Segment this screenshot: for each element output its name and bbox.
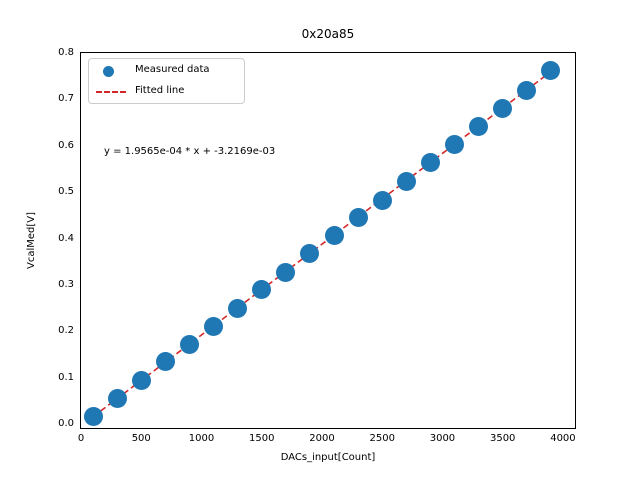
x-tick-label: 4000 bbox=[533, 433, 593, 445]
x-tick-label: 1000 bbox=[171, 433, 231, 445]
y-tick-label: 0.8 bbox=[40, 47, 74, 59]
data-point bbox=[156, 352, 175, 371]
data-point bbox=[204, 317, 223, 336]
chart-title: 0x20a85 bbox=[80, 27, 576, 41]
plot-area bbox=[80, 52, 576, 429]
data-point bbox=[84, 407, 103, 426]
legend-entry-fitted-line: Fitted line bbox=[89, 80, 244, 103]
x-tick-label: 3500 bbox=[473, 433, 533, 445]
y-tick-label: 0.6 bbox=[40, 140, 74, 152]
y-tick-label: 0.7 bbox=[40, 93, 74, 105]
y-tick-label: 0.3 bbox=[40, 279, 74, 291]
y-tick-label: 0.5 bbox=[40, 186, 74, 198]
circle-marker-icon bbox=[103, 66, 114, 77]
legend-label-measured-data: Measured data bbox=[135, 63, 210, 77]
y-tick-label: 0.2 bbox=[40, 325, 74, 337]
data-point bbox=[445, 135, 464, 154]
data-point bbox=[228, 299, 247, 318]
y-tick-label: 0.4 bbox=[40, 233, 74, 245]
data-point bbox=[493, 99, 512, 118]
x-tick-label: 3000 bbox=[412, 433, 472, 445]
legend-box: Measured data Fitted line bbox=[88, 58, 245, 104]
dashed-line-icon bbox=[96, 91, 126, 93]
data-point bbox=[325, 226, 344, 245]
data-point bbox=[397, 172, 416, 191]
legend-entry-measured-data: Measured data bbox=[89, 59, 244, 82]
data-point bbox=[349, 208, 368, 227]
data-point bbox=[132, 371, 151, 390]
data-point bbox=[108, 389, 127, 408]
figure-canvas: 0x20a85 05001000150020002500300035004000… bbox=[0, 0, 640, 480]
x-tick-label: 500 bbox=[111, 433, 171, 445]
x-tick-label: 1500 bbox=[232, 433, 292, 445]
data-point bbox=[373, 191, 392, 210]
plot-inner bbox=[81, 53, 575, 428]
data-point bbox=[276, 263, 295, 282]
y-tick-label: 0.0 bbox=[40, 418, 74, 430]
y-axis-label: VcalMed[V] bbox=[26, 52, 38, 429]
data-point bbox=[517, 81, 536, 100]
data-point bbox=[180, 335, 199, 354]
y-tick-label: 0.1 bbox=[40, 372, 74, 384]
fit-equation-annotation: y = 1.9565e-04 * x + -3.2169e-03 bbox=[104, 146, 275, 158]
x-axis-label: DACs_input[Count] bbox=[80, 452, 576, 464]
x-tick-label: 2500 bbox=[352, 433, 412, 445]
x-tick-label: 2000 bbox=[292, 433, 352, 445]
legend-label-fitted-line: Fitted line bbox=[135, 84, 184, 98]
x-tick-label: 0 bbox=[51, 433, 111, 445]
